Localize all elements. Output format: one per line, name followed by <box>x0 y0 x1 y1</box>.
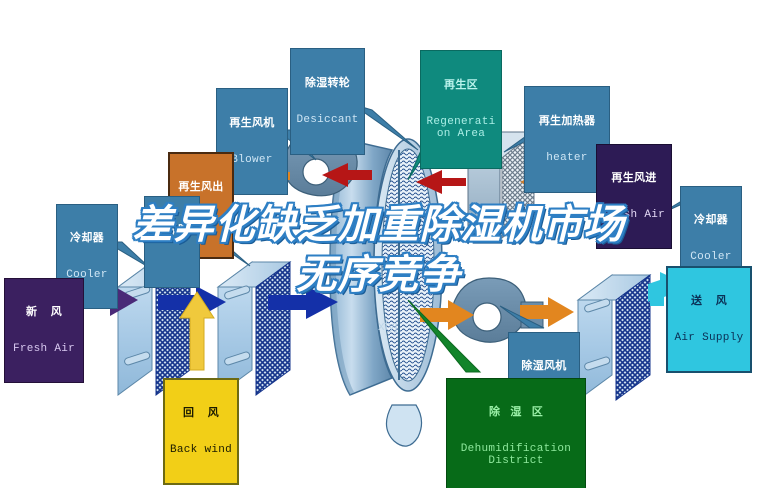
label-cooler-left-2-cn: 冷却器 <box>147 224 197 236</box>
label-cooler-left-1-cn: 冷却器 <box>59 232 115 244</box>
label-regen-heater-cn: 再生加热器 <box>527 115 607 127</box>
diagram-canvas: xfyj 除湿转轮 Desiccant 再生风机 Blower 再生区 Rege… <box>0 0 757 488</box>
label-regen-area-cn: 再生区 <box>423 79 499 91</box>
svg-text:xfyj: xfyj <box>378 318 398 333</box>
label-regen-exhaust-cn: 再生风出 <box>172 181 230 193</box>
label-regen-fresh-air-en: Fresh Air <box>599 209 669 221</box>
label-dehum-district-en: Dehumidification District <box>449 443 583 468</box>
label-back-wind-en: Back wind <box>167 444 235 456</box>
cooler-coil-right <box>578 275 650 400</box>
label-air-supply[interactable]: 送 风 Air Supply <box>666 266 752 373</box>
label-air-supply-cn: 送 风 <box>670 295 748 307</box>
label-fresh-air-en: Fresh Air <box>7 343 81 355</box>
label-cooler-left-2[interactable]: 冷却器 <box>144 196 200 288</box>
label-regen-area-en: Regenerati on Area <box>423 116 499 141</box>
label-regen-fresh-air-cn: 再生风进 <box>599 172 669 184</box>
label-regen-area[interactable]: 再生区 Regenerati on Area <box>420 50 502 169</box>
label-air-supply-en: Air Supply <box>670 332 748 344</box>
label-cooler-right-en: Cooler <box>683 251 739 263</box>
label-back-wind-cn: 回 风 <box>167 407 235 419</box>
label-desiccant-wheel[interactable]: 除湿转轮 Desiccant <box>290 48 365 155</box>
label-regen-heater-en: heater <box>527 152 607 164</box>
label-fresh-air[interactable]: 新 风 Fresh Air <box>4 278 84 383</box>
cooler-coil-left-2 <box>218 262 290 395</box>
label-cooler-right-cn: 冷却器 <box>683 214 739 226</box>
label-regen-blower-cn: 再生风机 <box>219 117 285 129</box>
label-back-wind[interactable]: 回 风 Back wind <box>163 378 239 485</box>
label-regen-fresh-air[interactable]: 再生风进 Fresh Air <box>596 144 672 249</box>
label-dehum-district-cn: 除 湿 区 <box>449 406 583 418</box>
label-dehum-blower-cn: 除湿风机 <box>511 360 577 372</box>
label-dehum-district[interactable]: 除 湿 区 Dehumidification District <box>446 378 586 488</box>
label-fresh-air-cn: 新 风 <box>7 306 81 318</box>
label-desiccant-wheel-en: Desiccant <box>293 114 362 126</box>
label-desiccant-wheel-cn: 除湿转轮 <box>293 77 362 89</box>
